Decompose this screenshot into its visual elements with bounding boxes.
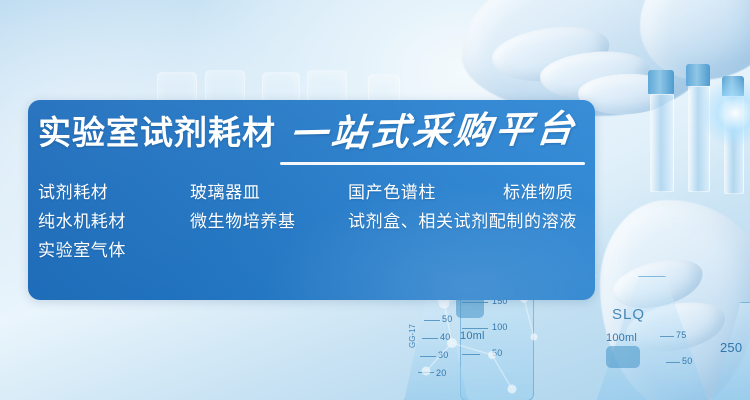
content-panel: 实验室试剂耗材 一站式采购平台 试剂耗材 玻璃器皿 国产色谱柱 标准物质 纯水机… [28,100,595,300]
category-microbial-culture-media[interactable]: 微生物培养基 [190,207,296,232]
headline-main-text: 实验室试剂耗材 [38,116,276,149]
category-row-3: 实验室气体 [38,236,589,265]
category-row-1: 试剂耗材 玻璃器皿 国产色谱柱 标准物质 [38,178,589,207]
headline-script-text: 一站式采购平台 [288,111,579,154]
headline-underline [280,162,585,165]
category-grid: 试剂耗材 玻璃器皿 国产色谱柱 标准物质 纯水机耗材 微生物培养基 试剂盒、相关… [38,178,589,265]
category-glassware[interactable]: 玻璃器皿 [190,178,260,203]
category-water-purifier-consumables[interactable]: 纯水机耗材 [38,207,126,232]
category-reagent-consumables[interactable]: 试剂耗材 [38,178,108,203]
category-row-2: 纯水机耗材 微生物培养基 试剂盒、相关试剂配制的溶液 [38,207,589,236]
flask-grad-50: 50 [682,356,692,366]
category-reagent-kits-solutions[interactable]: 试剂盒、相关试剂配制的溶液 [348,207,577,232]
category-domestic-chromatography-column[interactable]: 国产色谱柱 [348,178,436,203]
category-reference-materials[interactable]: 标准物质 [503,178,573,203]
laboratory-reagent-banner: 250 APPROX 200 150 100 50 GG-17 10ml 50 … [0,0,750,400]
right-flask-grad-250: 250 [720,340,742,355]
flask-grad-75: 75 [676,330,686,340]
category-laboratory-gases[interactable]: 实验室气体 [38,236,126,261]
